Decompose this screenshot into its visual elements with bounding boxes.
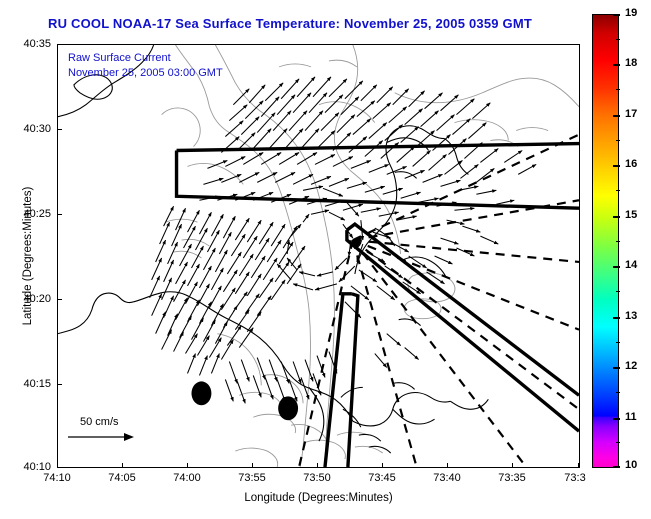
- xtick-mark: [578, 463, 579, 468]
- xtick-mark: [317, 463, 318, 468]
- colorbar-tick: [613, 367, 620, 369]
- colorbar-tick: [613, 418, 620, 420]
- xtick-label: 73:55: [228, 472, 276, 484]
- xtick-label: 74:05: [98, 472, 146, 484]
- colorbar-minor-tick: [616, 39, 620, 40]
- colorbar-label: 17: [625, 108, 637, 120]
- xtick-mark: [187, 463, 188, 468]
- xtick-mark: [382, 463, 383, 468]
- xtick-label: 73:40: [423, 472, 471, 484]
- xtick-label: 73:50: [293, 472, 341, 484]
- xtick-label: 74:00: [163, 472, 211, 484]
- colorbar-label: 12: [625, 360, 637, 372]
- colorbar-minor-tick: [616, 291, 620, 292]
- xtick-label: 73:3: [551, 472, 599, 484]
- y-axis-ticks: 40:35 40:30 40:25 40:20 40:15 40:10 74:1…: [0, 0, 651, 519]
- x-axis-title: Longitude (Degrees:Minutes): [57, 492, 580, 504]
- colorbar-minor-tick: [616, 442, 620, 443]
- colorbar-tick: [613, 115, 620, 117]
- colorbar-minor-tick: [616, 190, 620, 191]
- colorbar-tick: [613, 165, 620, 167]
- colorbar-tick: [613, 64, 620, 66]
- colorbar-label: 11: [625, 411, 637, 423]
- ytick-mark: [57, 384, 62, 385]
- colorbar-label: 19: [625, 7, 637, 19]
- colorbar-tick: [613, 317, 620, 319]
- colorbar-label: 14: [625, 259, 637, 271]
- colorbar-label: 18: [625, 57, 637, 69]
- ytick-label: 40:15: [5, 378, 51, 390]
- colorbar-tick: [613, 266, 620, 268]
- colorbar-minor-tick: [616, 140, 620, 141]
- colorbar-label: 10: [625, 459, 637, 471]
- colorbar-tick: [613, 466, 620, 468]
- colorbar-gradient: [592, 14, 619, 468]
- ytick-mark: [57, 129, 62, 130]
- xtick-mark: [57, 463, 58, 468]
- ytick-mark: [57, 214, 62, 215]
- colorbar-label: 13: [625, 310, 637, 322]
- ytick-label: 40:35: [5, 38, 51, 50]
- figure-canvas: RU COOL NOAA-17 Sea Surface Temperature:…: [0, 0, 651, 519]
- colorbar-label: 16: [625, 158, 637, 170]
- colorbar-tick: [613, 216, 620, 218]
- ytick-mark: [57, 299, 62, 300]
- colorbar-minor-tick: [616, 392, 620, 393]
- y-axis-title: Latitude (Degrees:Minutes): [22, 136, 34, 376]
- colorbar-tick: [613, 14, 620, 16]
- xtick-label: 73:45: [358, 472, 406, 484]
- ytick-label: 40:30: [5, 123, 51, 135]
- colorbar-minor-tick: [616, 89, 620, 90]
- xtick-mark: [512, 463, 513, 468]
- xtick-label: 73:35: [488, 472, 536, 484]
- ytick-mark: [57, 44, 62, 45]
- colorbar-label: 15: [625, 209, 637, 221]
- xtick-label: 74:10: [33, 472, 81, 484]
- colorbar[interactable]: 19 18 17 16 15 14 13 12 11 10: [592, 14, 619, 468]
- colorbar-minor-tick: [616, 241, 620, 242]
- xtick-mark: [447, 463, 448, 468]
- colorbar-minor-tick: [616, 342, 620, 343]
- xtick-mark: [252, 463, 253, 468]
- xtick-mark: [122, 463, 123, 468]
